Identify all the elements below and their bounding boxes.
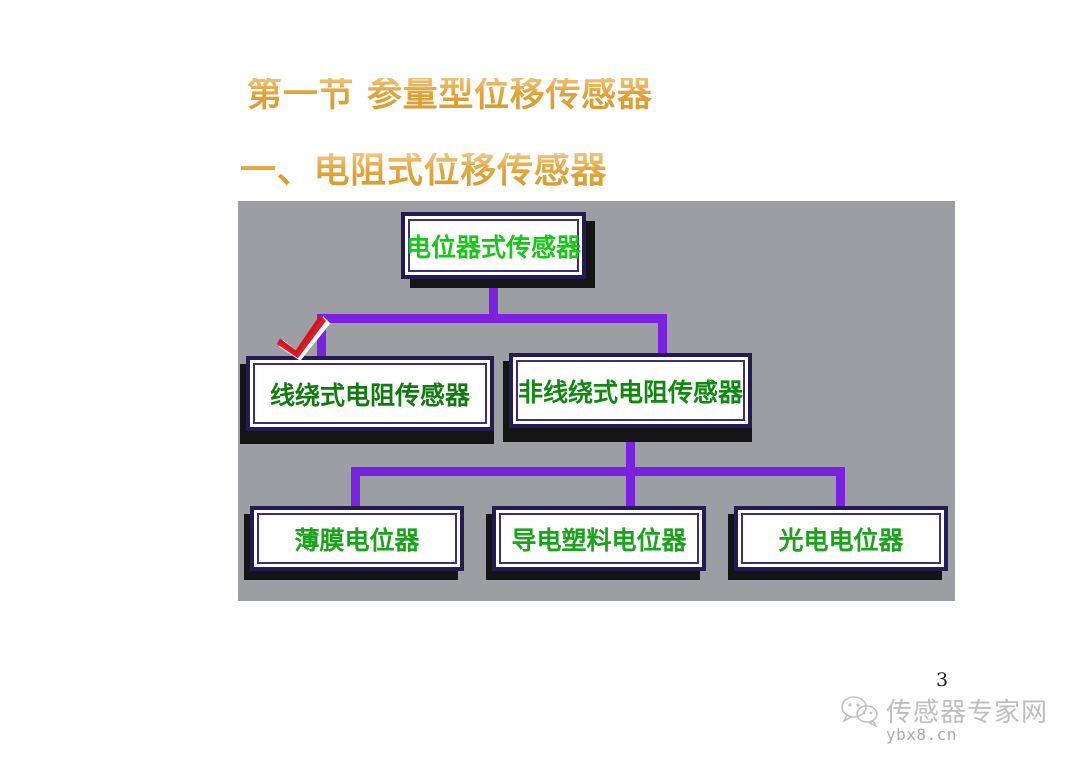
node-label: 线绕式电阻传感器 [270, 376, 470, 412]
diagram-node-photoelectric-potentiometer[interactable]: 光电电位器 [734, 506, 948, 571]
connector-to-bottom-3 [836, 467, 845, 511]
section-heading: 第一节 参量型位移传感器 [247, 78, 653, 113]
diagram-node-conductive-plastic-potentiometer[interactable]: 导电塑料电位器 [492, 506, 706, 571]
connector-to-bottom-2 [626, 467, 635, 511]
connector-level1-bar [317, 314, 667, 323]
node-label: 非线绕式电阻传感器 [518, 373, 743, 409]
watermark-text: 传感器专家网 [886, 692, 1048, 729]
wechat-logo-icon [840, 695, 880, 727]
node-label: 电位器式传感器 [406, 228, 581, 264]
diagram-panel: 电位器式传感器 线绕式电阻传感器 非线绕式电阻传感器 薄膜电位器 导电塑料电位器… [238, 201, 955, 601]
diagram-node-potentiometer-sensor[interactable]: 电位器式传感器 [401, 212, 586, 279]
watermark-row: 传感器专家网 [840, 692, 1070, 729]
diagram-node-wirewound-resistive-sensor[interactable]: 线绕式电阻传感器 [246, 356, 494, 431]
watermark: 传感器专家网 ybx8.cn [840, 692, 1070, 754]
connector-level2-bar [351, 467, 845, 476]
red-check-mark-icon [276, 313, 334, 361]
diagram-node-film-potentiometer[interactable]: 薄膜电位器 [250, 506, 464, 571]
node-label: 导电塑料电位器 [511, 521, 686, 557]
node-label: 薄膜电位器 [294, 521, 419, 557]
diagram-node-non-wirewound-resistive-sensor[interactable]: 非线绕式电阻传感器 [509, 353, 752, 428]
node-label: 光电电位器 [778, 521, 903, 557]
connector-to-bottom-1 [351, 467, 360, 511]
slide-canvas: 第一节 参量型位移传感器 一、电阻式位移传感器 电位器式传感器 线绕式电阻传感器… [0, 0, 1080, 763]
page-number: 3 [936, 669, 948, 691]
subsection-heading: 一、电阻式位移传感器 [240, 153, 607, 189]
